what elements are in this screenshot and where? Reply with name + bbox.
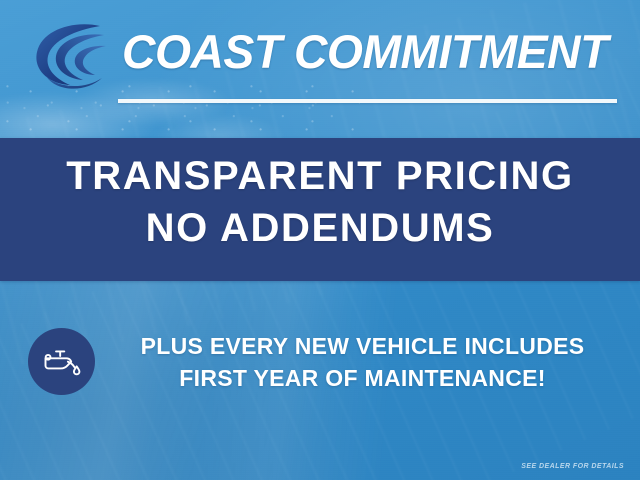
promo-row: PLUS EVERY NEW VEHICLE INCLUDES FIRST YE… (0, 322, 640, 406)
headline-line-2: NO ADDENDUMS (0, 206, 640, 251)
promo-text: PLUS EVERY NEW VEHICLE INCLUDES FIRST YE… (100, 330, 625, 394)
banner-header: COAST COMMITMENT (0, 0, 640, 138)
header-divider (118, 99, 617, 103)
oil-can-badge (28, 328, 95, 395)
headline-line-1: TRANSPARENT PRICING (0, 154, 640, 199)
headline-band: TRANSPARENT PRICING NO ADDENDUMS (0, 138, 640, 281)
coast-wave-logo-icon (26, 18, 122, 90)
brand-title: COAST COMMITMENT (122, 24, 615, 80)
disclaimer-text: SEE DEALER FOR DETAILS (521, 463, 624, 470)
promo-line-2: FIRST YEAR OF MAINTENANCE! (100, 362, 625, 394)
promo-line-1: PLUS EVERY NEW VEHICLE INCLUDES (100, 330, 625, 362)
oil-drop-icon (73, 366, 79, 374)
coast-commitment-banner: COAST COMMITMENT TRANSPARENT PRICING NO … (0, 0, 640, 480)
oil-can-icon (40, 343, 84, 380)
